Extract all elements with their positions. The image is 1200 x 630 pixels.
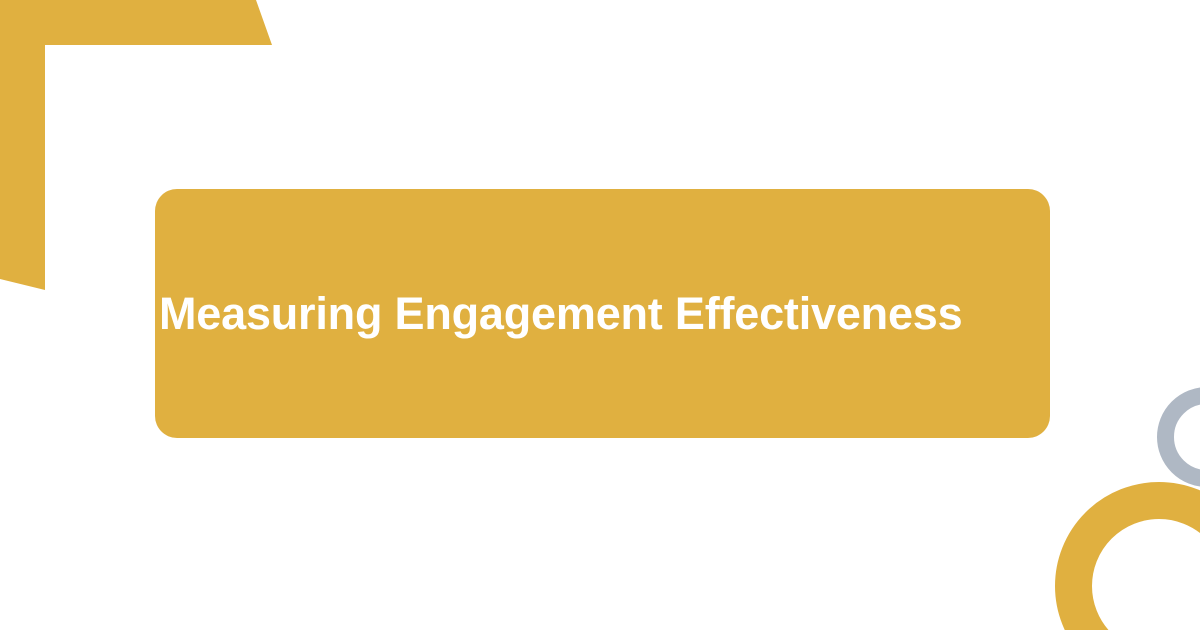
title-card-canvas: Measuring Engagement Effectiveness xyxy=(0,0,1200,630)
title-banner: Measuring Engagement Effectiveness xyxy=(155,189,1050,438)
gold-ring-icon xyxy=(1055,482,1200,630)
page-title: Measuring Engagement Effectiveness xyxy=(159,288,962,340)
gray-ring-icon xyxy=(1157,387,1200,487)
